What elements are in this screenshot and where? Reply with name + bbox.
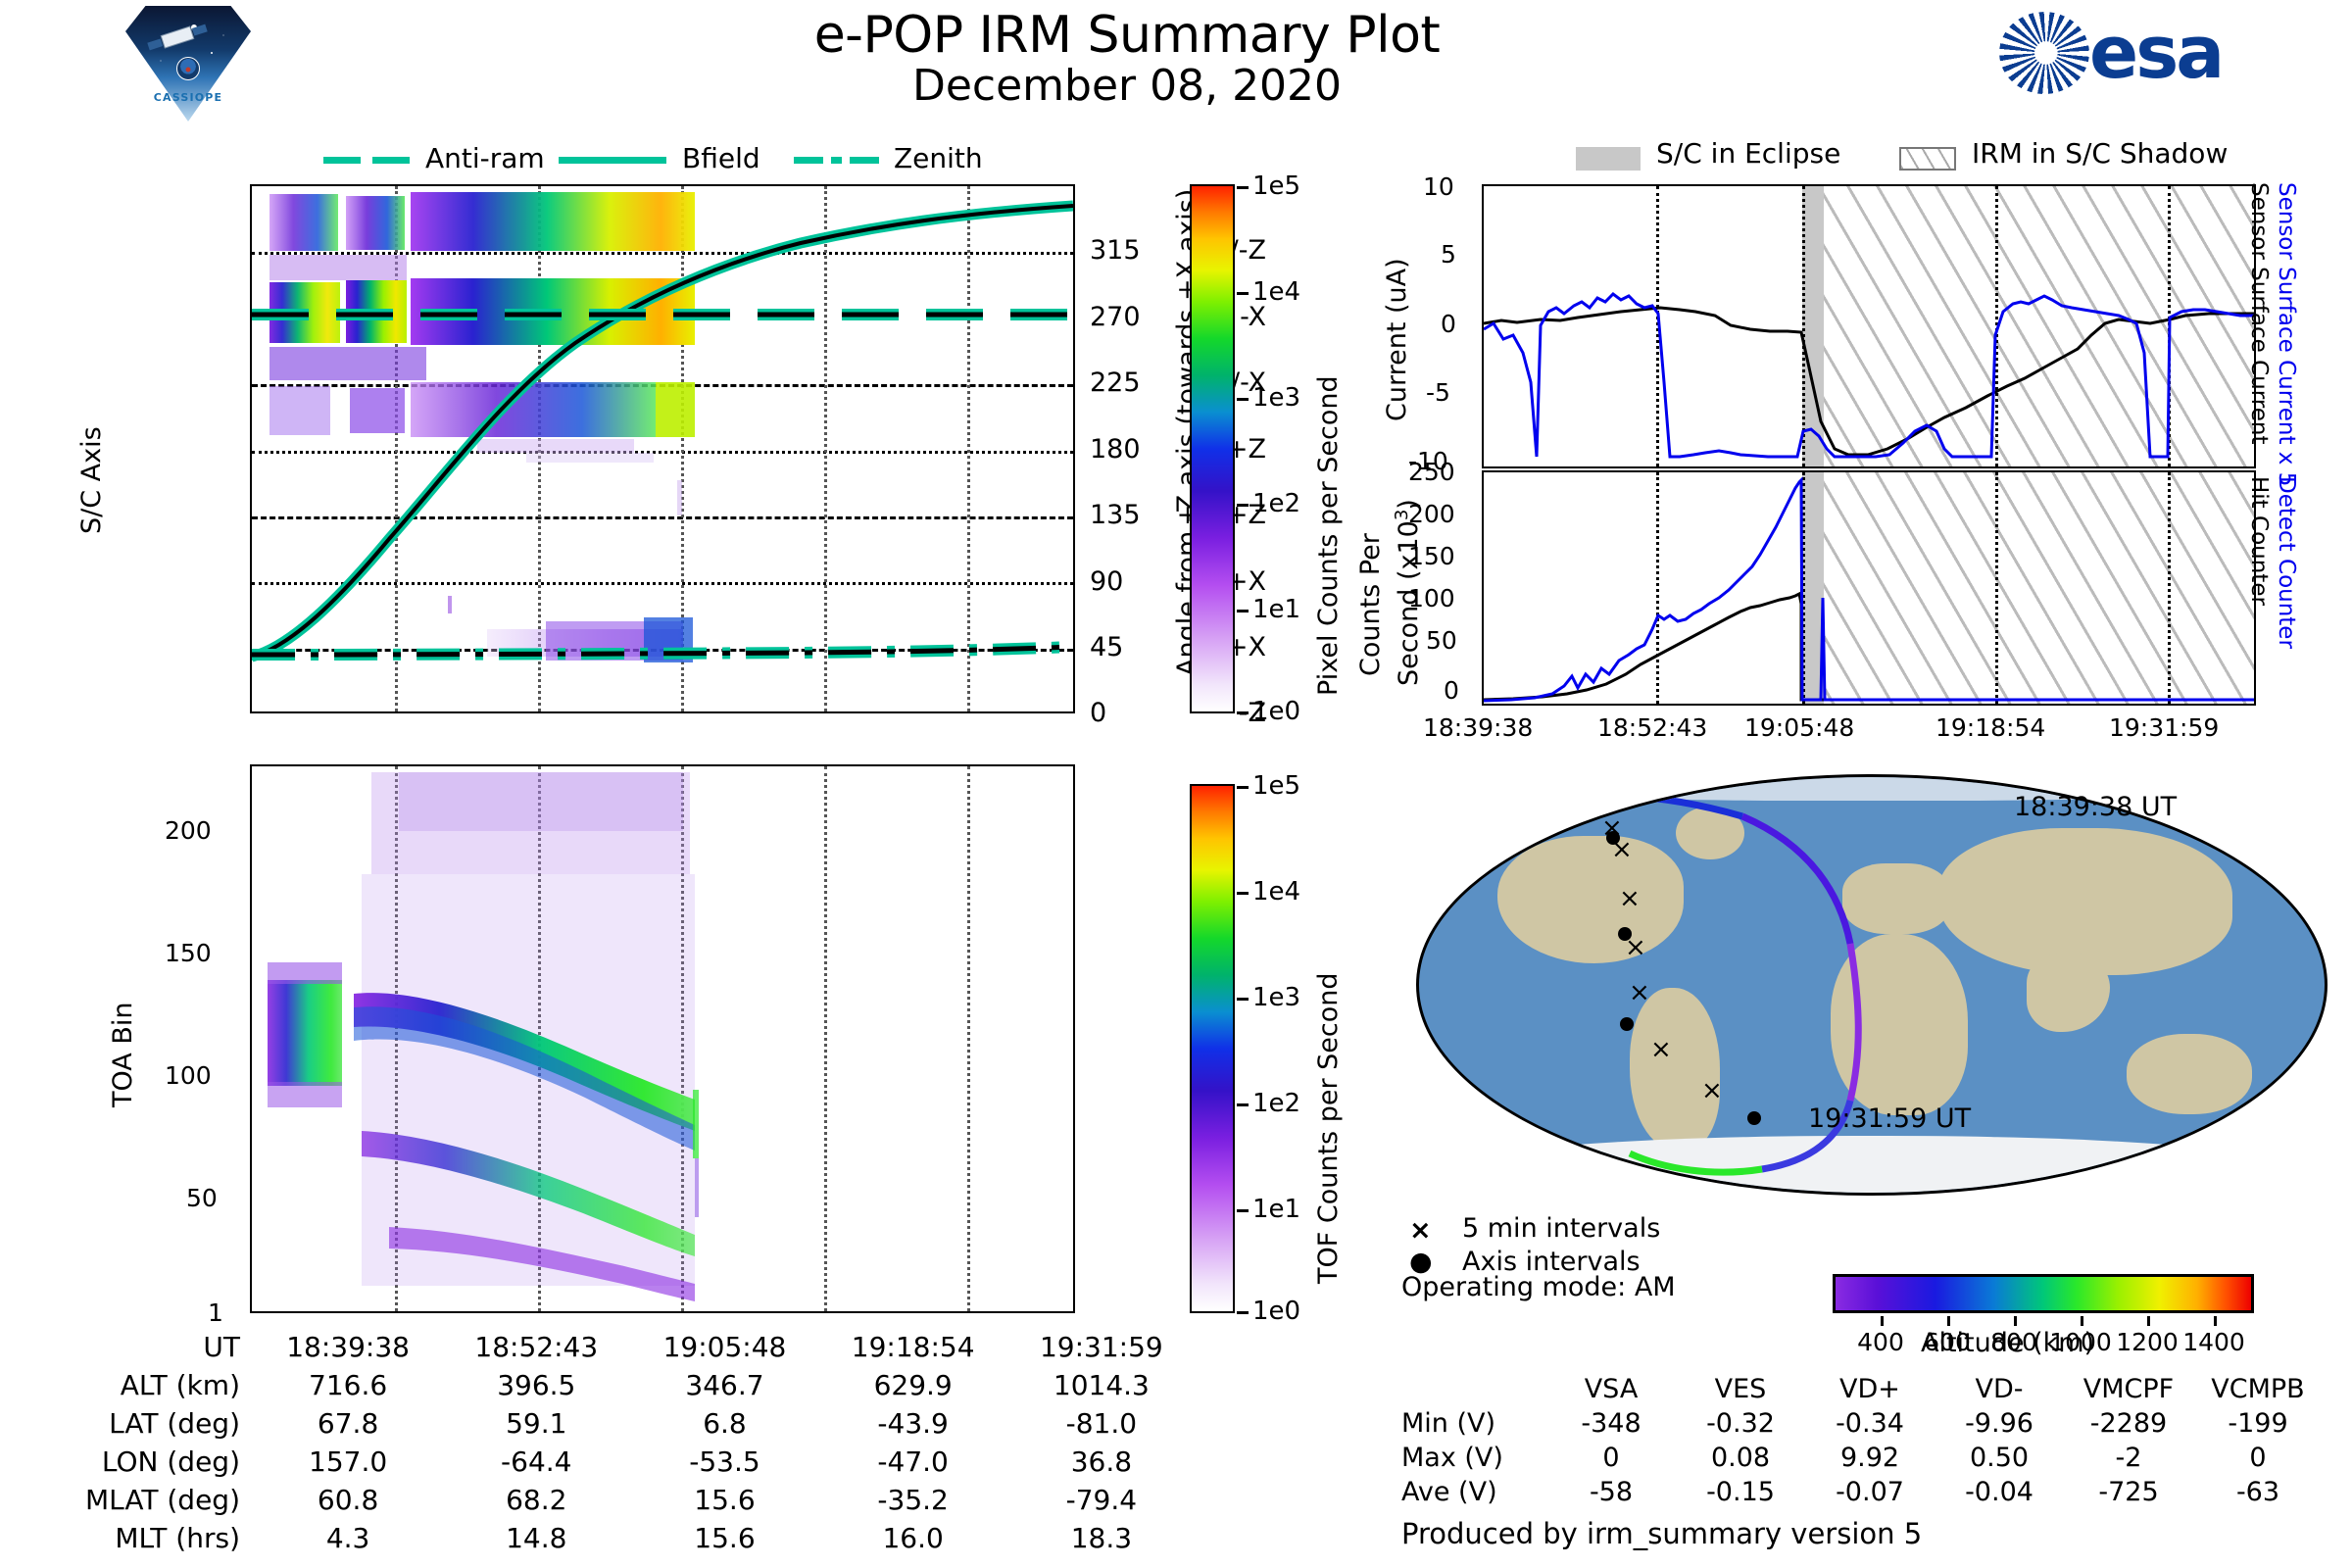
cell: -64.4: [442, 1443, 630, 1481]
cell: 19:31:59: [1007, 1328, 1196, 1366]
cbar-tick: [1237, 186, 1249, 189]
y2tick-label-a: 45: [1090, 632, 1123, 662]
table-row: Ave (V) -58 -0.15 -0.07 -0.04 -725 -63: [1401, 1475, 2323, 1509]
y2tick-label-a: 225: [1090, 367, 1141, 398]
ytick-label-b: 200: [165, 816, 212, 845]
series-label-detect-counter: Detect Counter: [2274, 476, 2299, 649]
cell: -63: [2193, 1475, 2323, 1509]
cell: -0.32: [1676, 1406, 1805, 1441]
y2tick-label-a: 180: [1090, 434, 1141, 465]
cell: -0.04: [1935, 1475, 2064, 1509]
ephemeris-table: UT 18:39:38 18:52:43 19:05:48 19:18:54 1…: [59, 1328, 1196, 1557]
cbar-label: 1e4: [1252, 877, 1300, 906]
cbar-tick: [1237, 398, 1249, 401]
cell: -199: [2193, 1406, 2323, 1441]
row-label: LAT (deg): [59, 1404, 254, 1443]
counts-series: [1484, 472, 2254, 704]
cbar-label: 1e1: [1252, 1195, 1300, 1224]
voltage-stats-table: VSA VES VD+ VD- VMCPF VCMPB Min (V) -348…: [1401, 1372, 2332, 1509]
cell: 157.0: [254, 1443, 442, 1481]
row-label: ALT (km): [59, 1366, 254, 1404]
legend-label-bfield: Bfield: [682, 142, 760, 174]
y2tick-label-a: 0: [1090, 698, 1106, 728]
row-label: Max (V): [1401, 1441, 1546, 1475]
column-header: VD+: [1805, 1372, 1935, 1406]
cell: 4.3: [254, 1519, 442, 1557]
legend-swatch-zenith-b: [831, 157, 842, 164]
cell: 716.6: [254, 1366, 442, 1404]
map-end-time-label: 19:31:59 UT: [1808, 1103, 1971, 1134]
cbar-label: 1e3: [1252, 983, 1300, 1012]
cross-marker: ×: [1619, 884, 1641, 913]
altitude-colorbar-title: Altitude (km): [1921, 1328, 2094, 1358]
table-row: LON (deg) 157.0 -64.4 -53.5 -47.0 36.8: [59, 1443, 1196, 1481]
altitude-tick: [1947, 1316, 1950, 1326]
cell: -43.9: [819, 1404, 1007, 1443]
table-row: MLT (hrs) 4.3 14.8 15.6 16.0 18.3: [59, 1519, 1196, 1557]
ytick-label-b: 100: [165, 1061, 212, 1090]
ytick-label-c: 0: [1441, 310, 1456, 338]
altitude-tick-label: 1400: [2182, 1328, 2245, 1356]
ytick-label-c: 10: [1423, 172, 1454, 201]
cbar-tick: [1237, 711, 1249, 714]
cell: 0: [2193, 1441, 2323, 1475]
tof-counts-colorbar[interactable]: 1e5 1e4 1e3 1e2 1e1 1e0: [1190, 784, 1235, 1313]
cbar-label: 1e3: [1252, 383, 1300, 413]
toa-bin-spectrogram-plot[interactable]: [250, 764, 1075, 1313]
cell: 18:39:38: [254, 1328, 442, 1366]
cell: -47.0: [819, 1443, 1007, 1481]
ytick-label-b: 1: [208, 1298, 223, 1327]
series-label-hit-counter: Hit Counter: [2246, 476, 2272, 606]
xtick-label-right: 19:18:54: [1935, 713, 2045, 742]
page-title: e-POP IRM Summary Plot: [686, 6, 1568, 65]
ytick-label-d: 50: [1426, 626, 1457, 655]
table-row: ALT (km) 716.6 396.5 346.7 629.9 1014.3: [59, 1366, 1196, 1404]
cell: 15.6: [630, 1481, 818, 1519]
cell: -2: [2064, 1441, 2193, 1475]
altitude-colorbar[interactable]: 400 600 800 1000 1200 1400: [1833, 1274, 2254, 1313]
cross-marker: ×: [1701, 1076, 1723, 1105]
cbar-tick: [1237, 1209, 1249, 1212]
altitude-tick: [2014, 1316, 2017, 1326]
cbar-label: 1e1: [1252, 595, 1300, 624]
cell: 18:52:43: [442, 1328, 630, 1366]
cassiope-logo-text: CASSIOPE: [125, 91, 251, 104]
legend-swatch-bfield: [559, 157, 666, 164]
cell: 1014.3: [1007, 1366, 1196, 1404]
cbar-tick: [1237, 998, 1249, 1001]
row-label: Ave (V): [1401, 1475, 1546, 1509]
cbar-tick: [1237, 786, 1249, 789]
current-plot[interactable]: [1482, 184, 2256, 468]
series-label-sensor-surface-current: Sensor Surface Current: [2246, 182, 2272, 444]
table-row: LAT (deg) 67.8 59.1 6.8 -43.9 -81.0: [59, 1404, 1196, 1443]
sc-axis-spectrogram-plot[interactable]: [250, 184, 1075, 713]
column-header: VMCPF: [2064, 1372, 2193, 1406]
cell: 346.7: [630, 1366, 818, 1404]
cbar-label: 1e0: [1252, 1297, 1300, 1326]
cell: 67.8: [254, 1404, 442, 1443]
cell: 19:05:48: [630, 1328, 818, 1366]
axis-interval-dot: [1620, 1017, 1634, 1031]
esa-logo: esa: [1999, 8, 2323, 98]
axis-interval-dot: [1606, 831, 1620, 845]
row-label: Min (V): [1401, 1406, 1546, 1441]
cbar-tick: [1237, 1103, 1249, 1106]
legend-label-shadow: IRM in S/C Shadow: [1972, 137, 2228, 170]
table-row: Min (V) -348 -0.32 -0.34 -9.96 -2289 -19…: [1401, 1406, 2323, 1441]
spectrogram-legend: Anti-ram Bfield Zenith: [323, 145, 911, 180]
cross-marker: ×: [1650, 1035, 1672, 1064]
altitude-tick-label: 1200: [2116, 1328, 2179, 1356]
cbar-label: 1e2: [1252, 489, 1300, 518]
cbar-label: 1e5: [1252, 771, 1300, 801]
eclipse-shadow-legend: S/C in Eclipse IRM in S/C Shadow: [1529, 141, 2313, 174]
spectrogram-data-b: [252, 766, 1073, 1311]
pixel-counts-colorbar[interactable]: 1e5 1e4 1e3 1e2 1e1 1e0: [1190, 184, 1235, 713]
corner-cell: [1401, 1372, 1546, 1406]
legend-swatch-eclipse: [1576, 147, 1641, 171]
axis-label-counts-line1: Counts Per: [1355, 533, 1386, 676]
cell: 18.3: [1007, 1519, 1196, 1557]
cell: -79.4: [1007, 1481, 1196, 1519]
map-legend-cross-symbol: ×: [1409, 1215, 1432, 1246]
colorbar-title-pixel-counts: Pixel Counts per Second: [1313, 375, 1344, 696]
cell: -348: [1546, 1406, 1676, 1441]
cbar-tick: [1237, 1311, 1249, 1314]
table-header-row: VSA VES VD+ VD- VMCPF VCMPB: [1401, 1372, 2323, 1406]
axis-interval-dot: [1747, 1111, 1761, 1125]
ytick-label-b: 50: [186, 1184, 218, 1212]
cell: 6.8: [630, 1404, 818, 1443]
cell: 60.8: [254, 1481, 442, 1519]
cell: 629.9: [819, 1366, 1007, 1404]
altitude-tick: [2214, 1316, 2217, 1326]
map-legend-cross-label: 5 min intervals: [1462, 1213, 1660, 1244]
cbar-tick: [1237, 292, 1249, 295]
ytick-label-b: 150: [165, 939, 212, 967]
esa-logo-text: esa: [2089, 14, 2222, 92]
column-header: VD-: [1935, 1372, 2064, 1406]
cell: -0.07: [1805, 1475, 1935, 1509]
legend-label-zenith: Zenith: [894, 142, 983, 174]
legend-swatch-shadow: [1899, 147, 1956, 171]
ytick-label-d: 250: [1408, 458, 1455, 486]
cbar-label: 1e5: [1252, 171, 1300, 201]
xtick-label-right: 19:31:59: [2109, 713, 2219, 742]
cell: -0.15: [1676, 1475, 1805, 1509]
legend-label-eclipse: S/C in Eclipse: [1656, 137, 1840, 170]
cell: 9.92: [1805, 1441, 1935, 1475]
counts-plot[interactable]: [1482, 470, 2256, 706]
cross-marker: ×: [1629, 978, 1650, 1007]
altitude-tick: [2081, 1316, 2083, 1326]
map-start-time-label: 18:39:38 UT: [2014, 792, 2177, 822]
cross-marker: ×: [1470, 778, 1492, 808]
table-row: MLAT (deg) 60.8 68.2 15.6 -35.2 -79.4: [59, 1481, 1196, 1519]
cbar-tick: [1237, 610, 1249, 612]
cell: -725: [2064, 1475, 2193, 1509]
cell: -53.5: [630, 1443, 818, 1481]
cbar-label: 1e0: [1252, 697, 1300, 726]
mission-emblem-icon: [176, 57, 200, 80]
legend-label-anti-ram: Anti-ram: [425, 142, 545, 174]
cassiope-mission-logo: CASSIOPE: [125, 6, 251, 122]
cell: 59.1: [442, 1404, 630, 1443]
y2tick-label-a: 135: [1090, 500, 1141, 530]
cell: -58: [1546, 1475, 1676, 1509]
y2tick-label-a: 315: [1090, 235, 1141, 266]
ytick-label-c: -5: [1426, 378, 1450, 407]
spectrogram-data-a: [252, 186, 1073, 711]
y2tick-label-a: 270: [1090, 302, 1141, 332]
altitude-tick: [1881, 1316, 1884, 1326]
cell: -0.34: [1805, 1406, 1935, 1441]
ytick-label-c: 5: [1441, 240, 1456, 269]
cell: 19:18:54: [819, 1328, 1007, 1366]
cbar-label: 1e4: [1252, 277, 1300, 307]
cell: -2289: [2064, 1406, 2193, 1441]
cell: -81.0: [1007, 1404, 1196, 1443]
series-label-sensor-surface-current-x5: Sensor Surface Current x 5: [2274, 182, 2299, 486]
current-series: [1484, 186, 2254, 466]
cell: -35.2: [819, 1481, 1007, 1519]
cell: 0.08: [1676, 1441, 1805, 1475]
cell: 16.0: [819, 1519, 1007, 1557]
cell: 0.50: [1935, 1441, 2064, 1475]
legend-swatch-zenith-a: [794, 157, 823, 164]
cross-marker: ×: [2240, 782, 2262, 811]
footer-produced-by: Produced by irm_summary version 5: [1401, 1517, 1922, 1550]
cell: 14.8: [442, 1519, 630, 1557]
ytick-label-d: 0: [1444, 676, 1459, 705]
legend-swatch-anti-ram: [323, 157, 361, 164]
row-label: UT: [59, 1328, 254, 1366]
cbar-label: 1e2: [1252, 1089, 1300, 1118]
cell: 396.5: [442, 1366, 630, 1404]
row-label: MLT (hrs): [59, 1519, 254, 1557]
altitude-tick: [2147, 1316, 2150, 1326]
axis-label-toa-bin: TOA Bin: [108, 1003, 138, 1107]
page-subtitle: December 08, 2020: [686, 61, 1568, 111]
cell: 15.6: [630, 1519, 818, 1557]
row-label: MLAT (deg): [59, 1481, 254, 1519]
cbar-tick: [1237, 892, 1249, 895]
column-header: VES: [1676, 1372, 1805, 1406]
axis-label-counts-line2: Second (x103): [1392, 499, 1424, 686]
cell: 36.8: [1007, 1443, 1196, 1481]
legend-swatch-zenith-c: [850, 157, 879, 164]
cell: -9.96: [1935, 1406, 2064, 1441]
axis-label-current: Current (uA): [1382, 258, 1412, 421]
table-row: Max (V) 0 0.08 9.92 0.50 -2 0: [1401, 1441, 2323, 1475]
column-header: VSA: [1546, 1372, 1676, 1406]
row-label: LON (deg): [59, 1443, 254, 1481]
column-header: VCMPB: [2193, 1372, 2323, 1406]
cbar-tick: [1237, 504, 1249, 507]
axis-interval-dot: [1618, 927, 1632, 941]
esa-swirl-icon: [1999, 12, 2089, 94]
axis-label-sc-axis: S/C Axis: [76, 426, 107, 534]
xtick-label-right: 18:39:38: [1423, 713, 1533, 742]
colorbar-title-tof-counts: TOF Counts per Second: [1313, 973, 1344, 1285]
cell: 0: [1546, 1441, 1676, 1475]
xtick-label-right: 19:05:48: [1744, 713, 1854, 742]
legend-swatch-anti-ram-2: [372, 157, 410, 164]
table-row: UT 18:39:38 18:52:43 19:05:48 19:18:54 1…: [59, 1328, 1196, 1366]
xtick-label-right: 18:52:43: [1597, 713, 1707, 742]
cell: 68.2: [442, 1481, 630, 1519]
operating-mode-label: Operating mode: AM: [1401, 1272, 1676, 1302]
y2tick-label-a: 90: [1090, 566, 1123, 597]
ground-track-map[interactable]: × × × × × × × × × 18:39:38 UT 19:31:59 U…: [1416, 774, 2327, 1196]
altitude-tick-label: 400: [1857, 1328, 1904, 1356]
